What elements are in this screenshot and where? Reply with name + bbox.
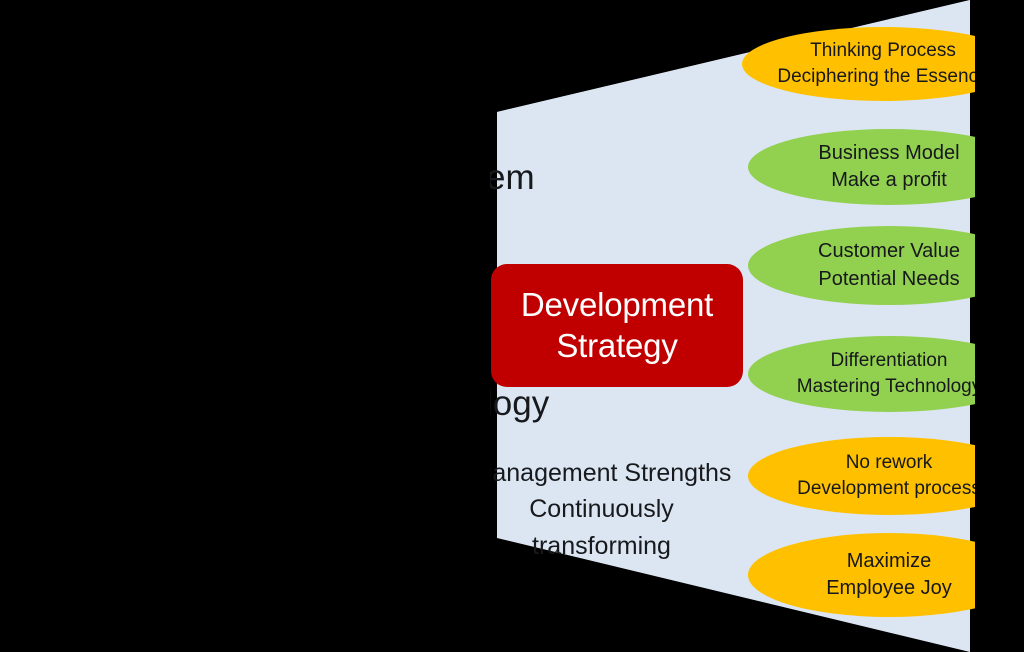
bubble-label: Thinking Process Deciphering the Essence [771, 38, 994, 90]
occlusion-mask-left [0, 0, 490, 652]
diagram-canvas: em logy Management Strengths Continuousl… [0, 0, 1024, 652]
funnel-label-problem: em [486, 158, 535, 198]
development-strategy-label: Development Strategy [521, 285, 713, 366]
bubble-label: No rework Development process [791, 450, 987, 502]
development-strategy-callout[interactable]: Development Strategy [491, 264, 743, 387]
bubble-label: Business Model Make a profit [812, 140, 965, 194]
bubble-label: Maximize Employee Joy [820, 548, 958, 602]
funnel-label-management: Management Strengths Continuously transf… [460, 455, 743, 564]
bubble-label: Customer Value Potential Needs [812, 238, 966, 292]
occlusion-mask-right [975, 0, 1024, 652]
funnel-label-technology: logy [485, 384, 549, 424]
bubble-label: Differentiation Mastering Technology [791, 348, 987, 400]
